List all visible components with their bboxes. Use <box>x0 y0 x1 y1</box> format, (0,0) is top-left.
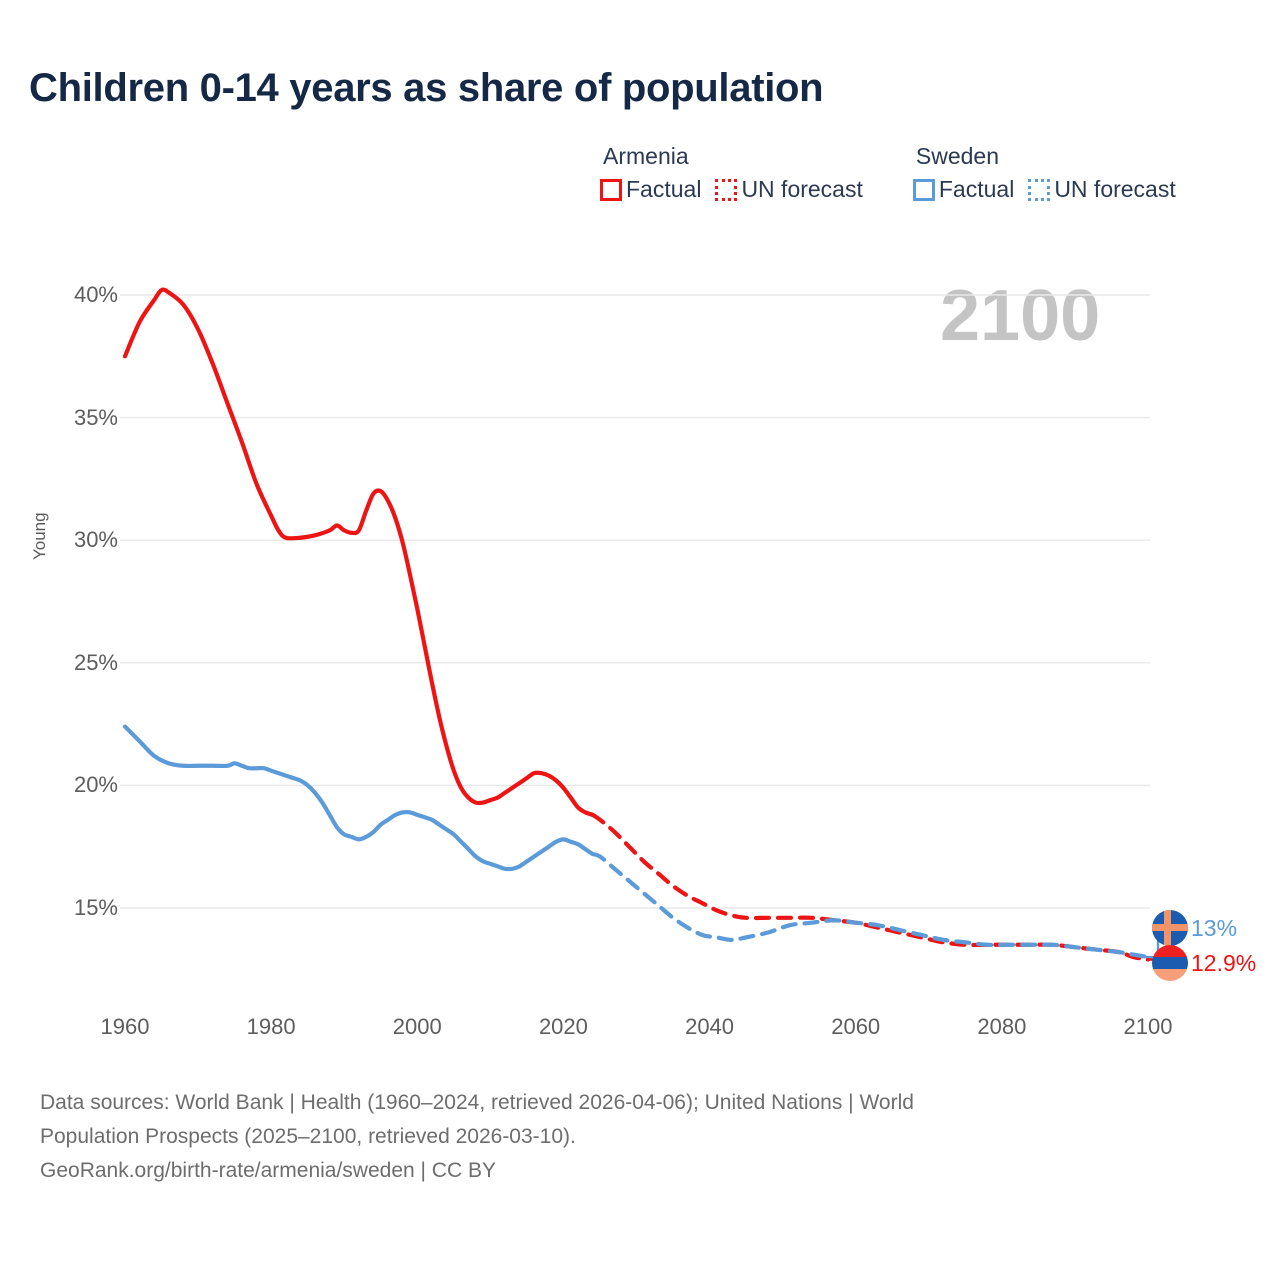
chart-container: Children 0-14 years as share of populati… <box>0 0 1280 1280</box>
armenia-flag-icon <box>1152 945 1188 981</box>
footer-line-3[interactable]: GeoRank.org/birth-rate/armenia/sweden | … <box>40 1154 1200 1188</box>
x-tick-label: 1980 <box>247 1014 296 1040</box>
end-value-sweden: 13% <box>1191 915 1237 942</box>
x-tick-label: 2040 <box>685 1014 734 1040</box>
x-tick-label: 2000 <box>393 1014 442 1040</box>
chart-footer: Data sources: World Bank | Health (1960–… <box>40 1086 1200 1188</box>
footer-line-1: Data sources: World Bank | Health (1960–… <box>40 1086 1200 1120</box>
x-tick-label: 2020 <box>539 1014 588 1040</box>
sweden-flag-icon <box>1152 910 1188 946</box>
end-value-armenia: 12.9% <box>1191 950 1256 977</box>
x-tick-label: 1960 <box>101 1014 150 1040</box>
footer-line-2: Population Prospects (2025–2100, retriev… <box>40 1120 1200 1154</box>
x-tick-label: 2060 <box>831 1014 880 1040</box>
x-tick-label: 2080 <box>977 1014 1026 1040</box>
x-tick-label: 2100 <box>1124 1014 1173 1040</box>
